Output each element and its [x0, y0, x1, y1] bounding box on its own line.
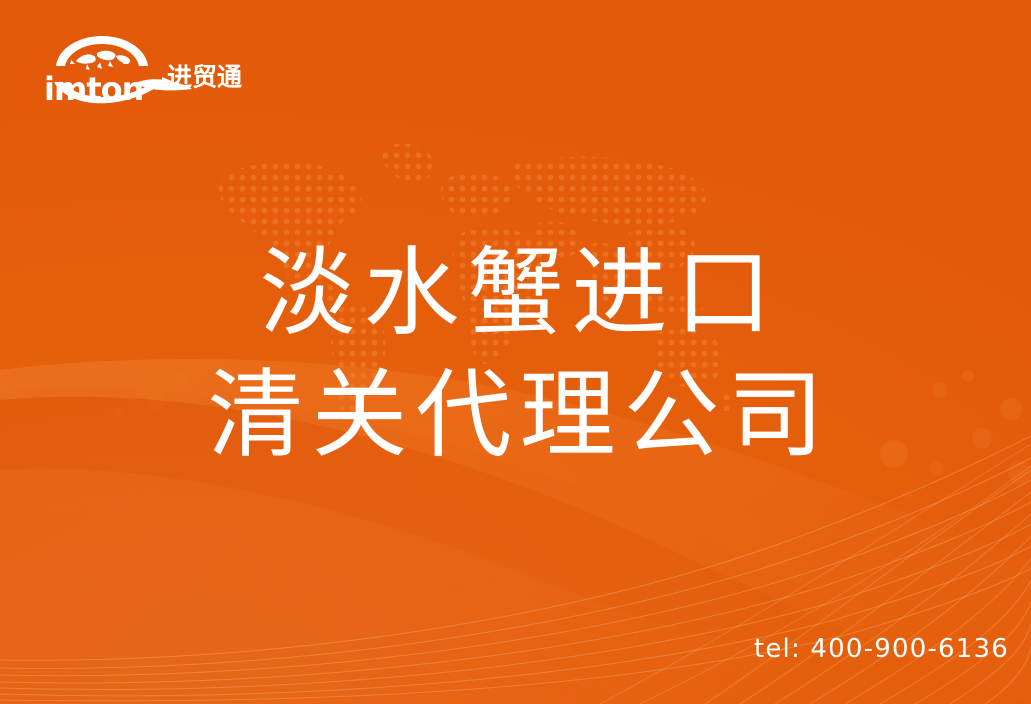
logo-chinese-wordmark: 进贸通: [167, 65, 242, 90]
page-title-line-1: 淡水蟹进口: [0, 232, 1031, 354]
registered-trademark-icon: ®: [232, 69, 239, 79]
contact-telephone[interactable]: tel: 400-900-6136: [754, 634, 1009, 664]
page-title-line-2: 清关代理公司: [0, 354, 1031, 476]
logo-latin-wordmark: imton: [44, 73, 143, 105]
bokeh-circle: [902, 490, 912, 500]
globe-arc-icon: [56, 36, 148, 70]
page-title: 淡水蟹进口 清关代理公司: [0, 232, 1031, 476]
poster-canvas: imton 进贸通 ® 淡水蟹进口 清关代理公司 tel: 400-900-61…: [0, 0, 1031, 704]
brand-logo[interactable]: imton 进贸通 ®: [40, 33, 250, 105]
